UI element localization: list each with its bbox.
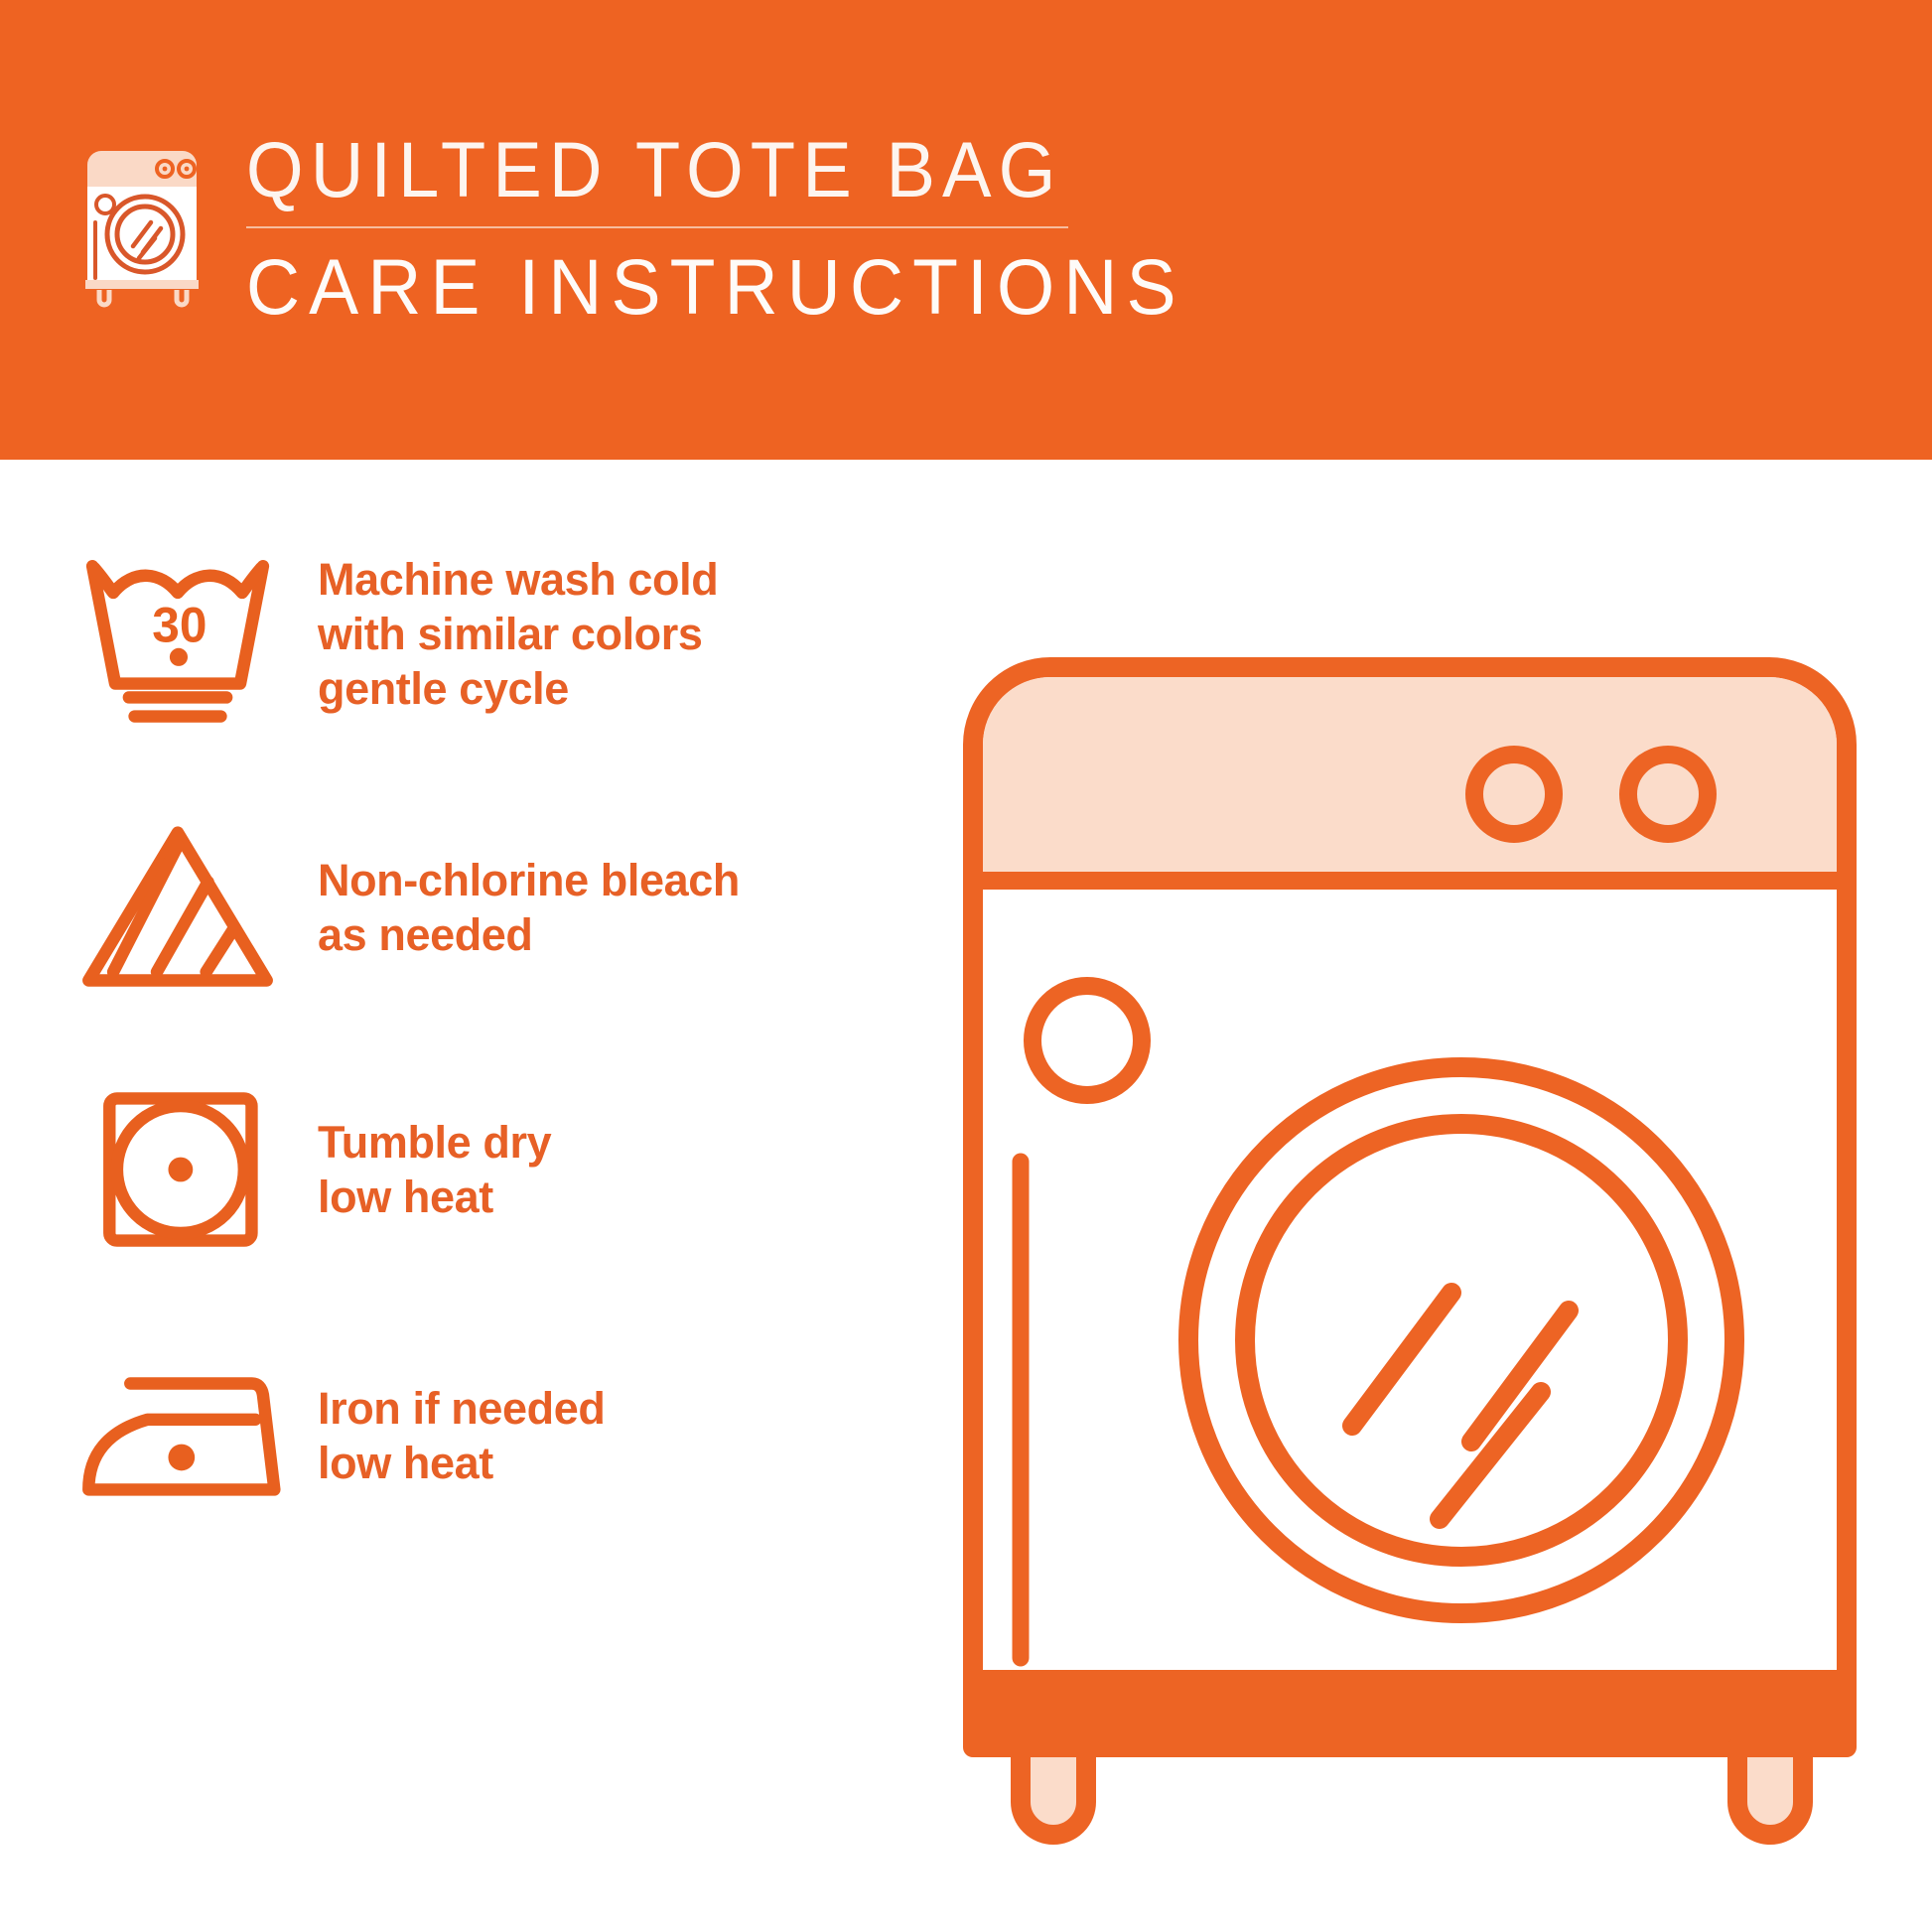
- base-bar: [973, 1670, 1847, 1747]
- tumble-dry-low-icon: [73, 1065, 282, 1274]
- instruction-label-dry: Tumble dry low heat: [318, 1115, 888, 1224]
- washing-machine-icon: [77, 131, 216, 308]
- header-title-group: QUILTED TOTE BAG CARE INSTRUCTIONS: [244, 127, 1234, 330]
- header-banner: QUILTED TOTE BAG CARE INSTRUCTIONS: [0, 0, 1932, 460]
- header-content: QUILTED TOTE BAG CARE INSTRUCTIONS: [77, 127, 1234, 330]
- instruction-row-iron: Iron if needed low heat: [73, 1331, 888, 1540]
- instruction-label-bleach: Non-chlorine bleach as needed: [318, 853, 888, 962]
- instruction-row-dry: Tumble dry low heat: [73, 1065, 888, 1274]
- page-subtitle: CARE INSTRUCTIONS: [244, 244, 1185, 330]
- knob-left: [1474, 755, 1554, 834]
- wash-tub-30-gentle-icon: 30: [73, 529, 282, 738]
- instruction-label-iron: Iron if needed low heat: [318, 1381, 888, 1490]
- leg-right: [1737, 1747, 1803, 1835]
- wash-temperature-value: 30: [152, 598, 207, 653]
- front-load-washing-machine-illustration: [953, 625, 1866, 1866]
- panel-divider: [973, 872, 1847, 890]
- non-chlorine-bleach-triangle-icon: [73, 803, 282, 1012]
- instruction-label-wash: Machine wash cold with similar colors ge…: [318, 552, 888, 716]
- page-title: QUILTED TOTE BAG: [244, 127, 1175, 212]
- leg-left: [1021, 1747, 1086, 1835]
- knob-right: [1628, 755, 1708, 834]
- iron-low-heat-icon: [73, 1331, 282, 1540]
- care-instruction-list: 30 Machine wash cold with similar colors…: [0, 460, 943, 1932]
- instruction-row-bleach: Non-chlorine bleach as needed: [73, 803, 888, 1012]
- instruction-row-wash: 30 Machine wash cold with similar colors…: [73, 529, 888, 738]
- title-divider: [246, 226, 1068, 228]
